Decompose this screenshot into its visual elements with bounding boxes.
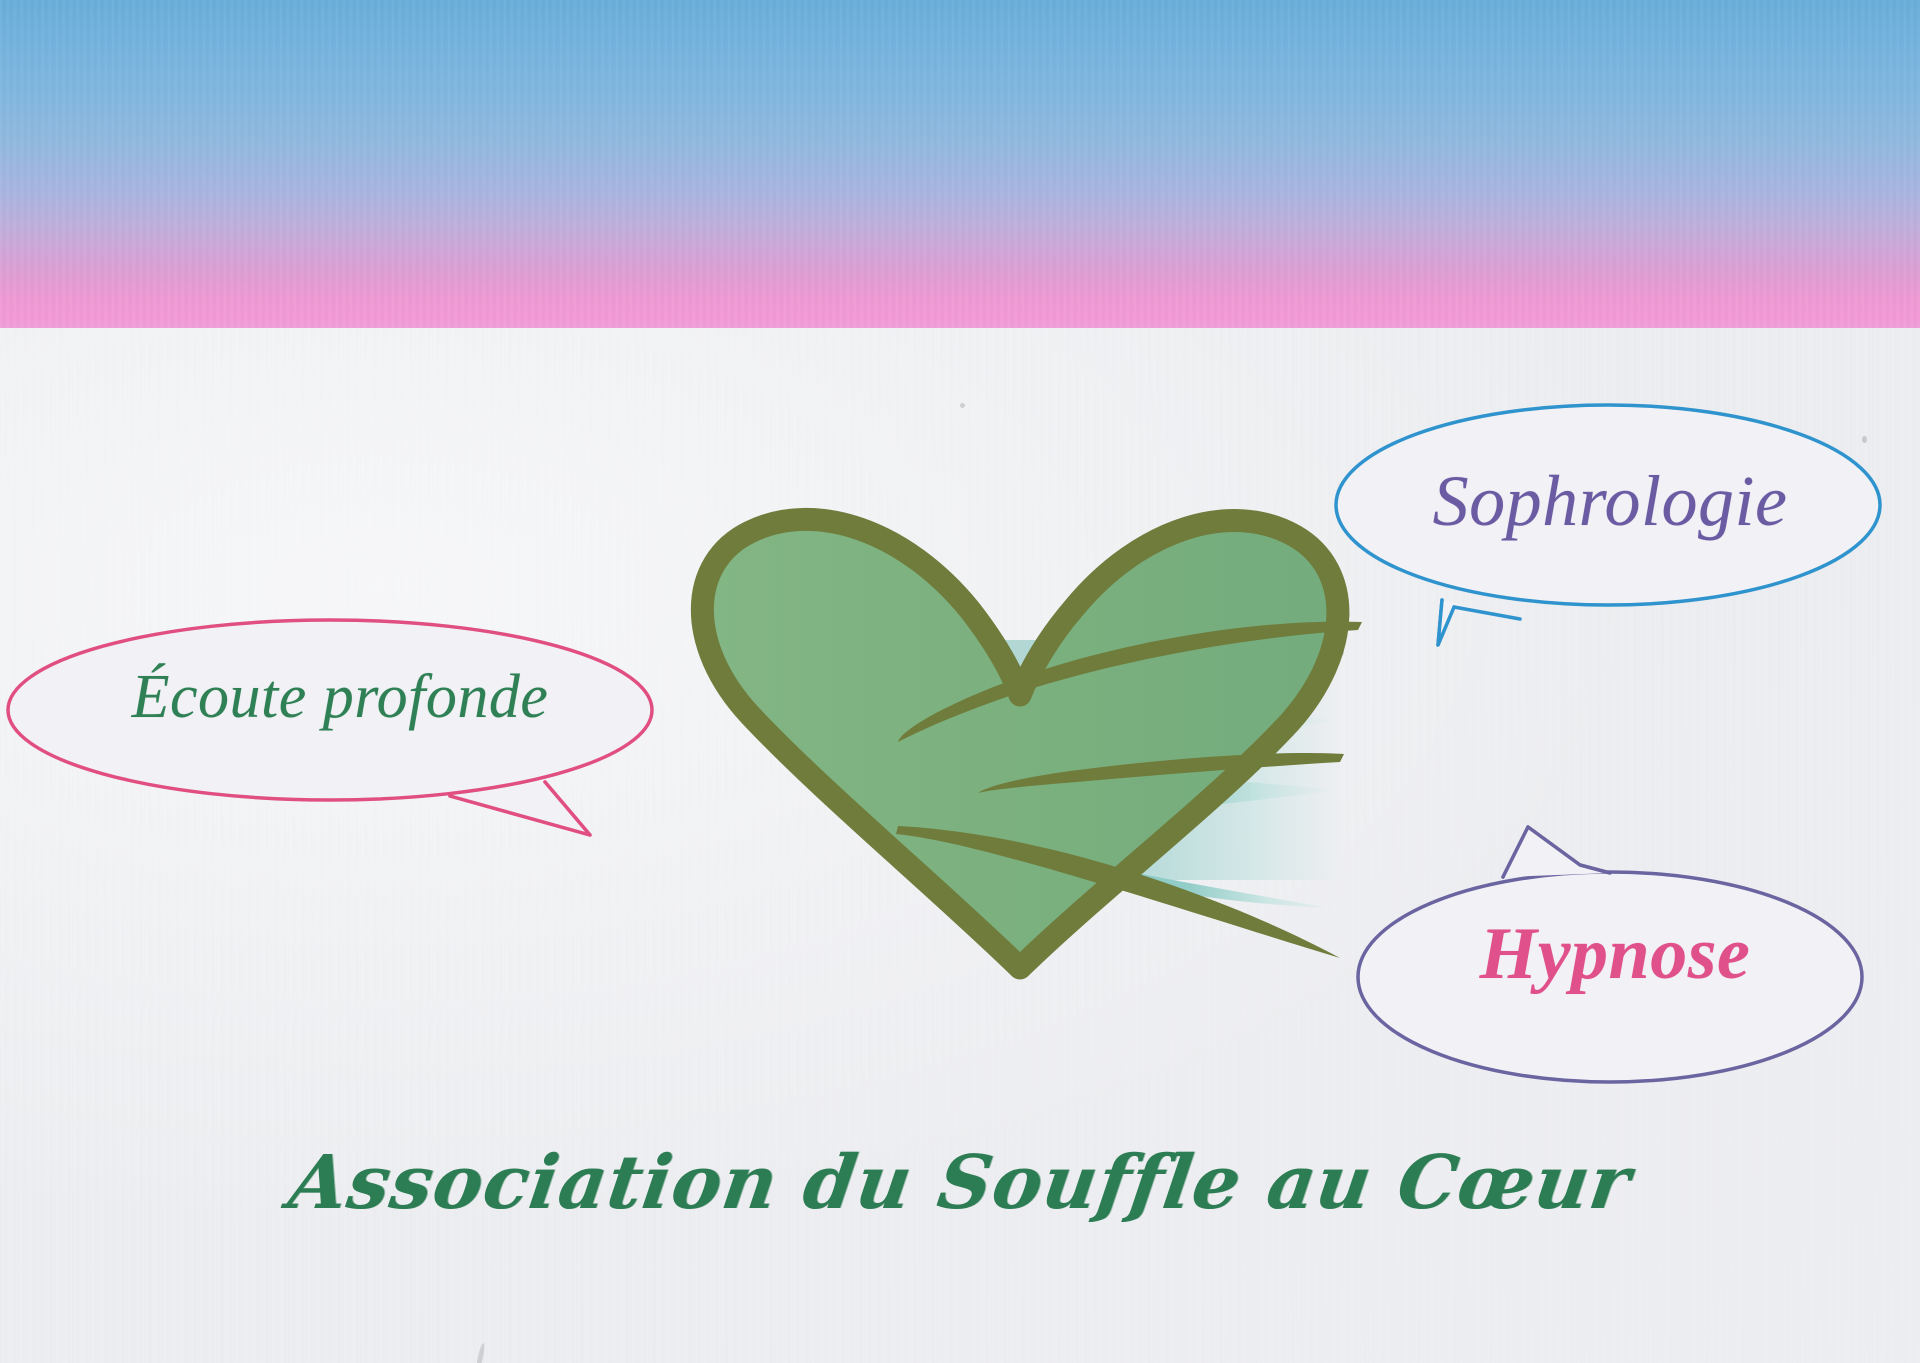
bubble-label-ecoute-profonde: Écoute profonde (0, 662, 680, 733)
bubble-label-sophrologie: Sophrologie (1330, 460, 1890, 543)
speech-bubble-sophrologie[interactable]: Sophrologie (1330, 395, 1890, 675)
poster-canvas: Sophrologie Écoute profonde Hypnose Asso… (0, 0, 1920, 1363)
sky-gradient-band (0, 0, 1920, 328)
speech-bubble-ecoute-profonde[interactable]: Écoute profonde (0, 610, 680, 860)
association-name: Association du Souffle au Cœur (0, 1140, 1920, 1226)
heart-with-breath-logo (640, 490, 1400, 1000)
speech-bubble-hypnose[interactable]: Hypnose (1355, 815, 1875, 1090)
bubble-label-hypnose: Hypnose (1355, 912, 1875, 997)
